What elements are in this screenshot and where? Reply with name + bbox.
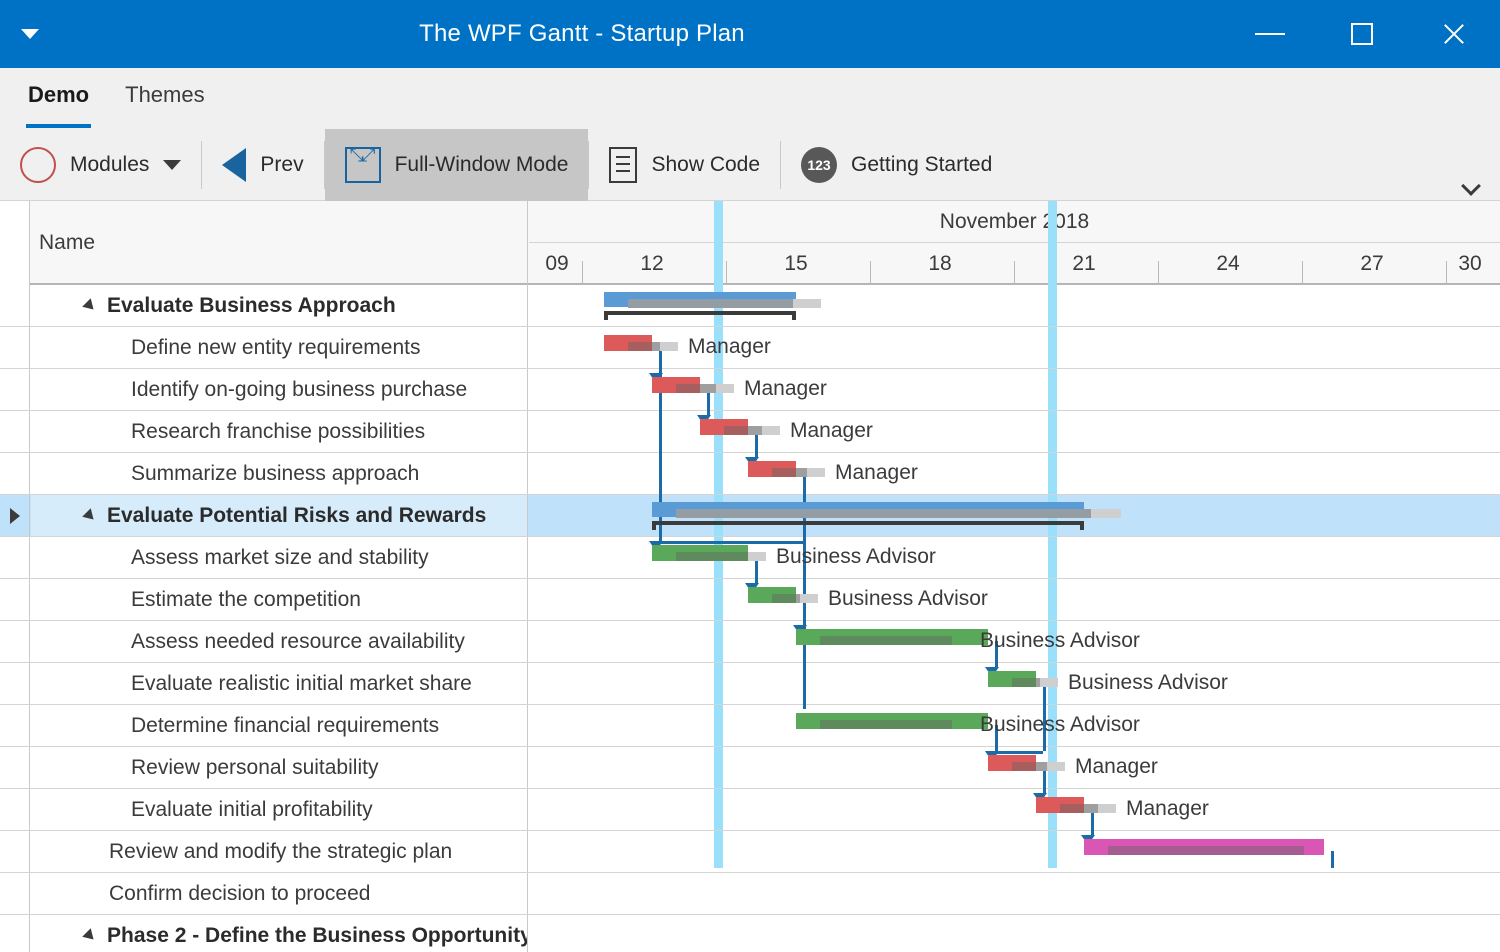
row-expander-cell[interactable] <box>0 579 30 620</box>
summary-progress <box>676 509 1091 518</box>
task-name-label: Determine financial requirements <box>131 714 439 738</box>
row-name-cell: Summarize business approach <box>31 453 528 494</box>
timeline-row-divider <box>529 830 1500 831</box>
task-name-label: Assess market size and stability <box>131 546 429 570</box>
column-header-name[interactable]: Name <box>31 201 528 285</box>
task-name-label: Evaluate realistic initial market share <box>131 672 472 696</box>
prev-triangle-icon <box>222 148 246 182</box>
tab-themes[interactable]: Themes <box>123 76 206 122</box>
collapse-triangle-icon[interactable] <box>82 298 98 314</box>
row-expander-cell[interactable] <box>0 705 30 746</box>
task-progress-bar <box>1012 678 1040 687</box>
minimize-icon <box>1255 33 1285 35</box>
row-name-cell: Determine financial requirements <box>31 705 528 746</box>
task-progress-bar <box>676 552 748 561</box>
row-expander-cell[interactable] <box>0 495 30 536</box>
table-row[interactable]: Confirm decision to proceed <box>0 873 1500 915</box>
timeline-row-divider <box>529 368 1500 369</box>
chevron-down-icon <box>163 160 181 170</box>
tab-demo[interactable]: Demo <box>26 76 91 122</box>
minimize-button[interactable] <box>1224 0 1316 68</box>
show-code-label: Show Code <box>651 153 760 177</box>
row-name-cell: Phase 2 - Define the Business Opportunit… <box>31 915 528 952</box>
timeline-row-divider <box>529 746 1500 747</box>
task-progress-bar <box>724 426 762 435</box>
getting-started-button[interactable]: 123 Getting Started <box>781 129 1012 201</box>
modules-button[interactable]: Modules <box>0 129 201 201</box>
summary-bracket <box>652 521 1084 530</box>
row-name-cell: Research franchise possibilities <box>31 411 528 452</box>
resource-label: Manager <box>744 377 827 401</box>
row-name-cell: Assess needed resource availability <box>31 621 528 662</box>
table-row[interactable]: Phase 2 - Define the Business Opportunit… <box>0 915 1500 952</box>
row-expander-cell[interactable] <box>0 747 30 788</box>
row-expander-cell[interactable] <box>0 453 30 494</box>
task-name-label: Identify on-going business purchase <box>131 378 467 402</box>
prev-label: Prev <box>260 153 303 177</box>
timeline-row-divider <box>529 410 1500 411</box>
resource-label: Manager <box>790 419 873 443</box>
timeline-row-divider <box>529 620 1500 621</box>
task-progress-bar <box>1012 762 1047 771</box>
dependency-link-vertical <box>1331 851 1334 868</box>
row-name-cell: Estimate the competition <box>31 579 528 620</box>
row-name-cell: Define new entity requirements <box>31 327 528 368</box>
ribbon-command-bar: Modules Prev Full-Window Mode Show Code … <box>0 129 1500 201</box>
resource-label: Business Advisor <box>828 587 988 611</box>
resource-label: Manager <box>1075 755 1158 779</box>
show-code-button[interactable]: Show Code <box>589 129 780 201</box>
ribbon: Demo Themes Modules Prev Full-Window Mod… <box>0 68 1500 201</box>
task-name-label: Estimate the competition <box>131 588 361 612</box>
fullscreen-icon <box>345 147 381 183</box>
timeline-row-divider <box>529 704 1500 705</box>
task-progress-bar <box>1060 804 1098 813</box>
timeline-row-divider <box>529 452 1500 453</box>
close-icon <box>1441 21 1467 47</box>
resource-label: Business Advisor <box>980 713 1140 737</box>
row-name-cell: Review and modify the strategic plan <box>31 831 528 872</box>
maximize-button[interactable] <box>1316 0 1408 68</box>
ribbon-tab-strip: Demo Themes <box>0 68 1500 129</box>
row-name-cell: Evaluate Business Approach <box>31 285 528 326</box>
task-progress-bar <box>676 384 716 393</box>
gantt-control: Name November 2018 0912151821242730 Eval… <box>0 201 1500 952</box>
maximize-icon <box>1351 23 1373 45</box>
task-progress-bar <box>1108 846 1304 855</box>
gantt-timeline-area[interactable]: ManagerManagerManagerManagerBusiness Adv… <box>529 201 1500 868</box>
row-expander-cell[interactable] <box>0 621 30 662</box>
task-name-label: Review and modify the strategic plan <box>109 840 452 864</box>
task-progress-bar <box>772 594 800 603</box>
getting-started-label: Getting Started <box>851 153 992 177</box>
resource-label: Business Advisor <box>776 545 936 569</box>
resource-label: Business Advisor <box>1068 671 1228 695</box>
resource-label: Business Advisor <box>980 629 1140 653</box>
row-name-cell: Evaluate realistic initial market share <box>31 663 528 704</box>
timeline-row-divider <box>529 662 1500 663</box>
row-expander-cell[interactable] <box>0 411 30 452</box>
123-badge-icon: 123 <box>801 147 837 183</box>
compass-icon <box>20 147 56 183</box>
timeline-row-divider <box>529 326 1500 327</box>
task-name-label: Assess needed resource availability <box>131 630 465 654</box>
task-progress-bar <box>628 342 660 351</box>
task-name-label: Research franchise possibilities <box>131 420 425 444</box>
task-name-label: Define new entity requirements <box>131 336 420 360</box>
code-document-icon <box>609 147 637 183</box>
row-name-cell: Evaluate Potential Risks and Rewards <box>31 495 528 536</box>
task-progress-bar <box>820 720 952 729</box>
row-expander-cell[interactable] <box>0 873 30 914</box>
row-expander-cell[interactable] <box>0 327 30 368</box>
task-name-label: Summarize business approach <box>131 462 419 486</box>
full-window-mode-label: Full-Window Mode <box>395 153 569 177</box>
task-name-label: Evaluate Business Approach <box>107 294 396 318</box>
task-name-label: Confirm decision to proceed <box>109 882 370 906</box>
row-name-cell: Evaluate initial profitability <box>31 789 528 830</box>
prev-button[interactable]: Prev <box>202 129 323 201</box>
row-name-cell: Identify on-going business purchase <box>31 369 528 410</box>
row-name-cell: Assess market size and stability <box>31 537 528 578</box>
resource-label: Manager <box>835 461 918 485</box>
row-expander-cell[interactable] <box>0 285 30 326</box>
row-name-cell: Confirm decision to proceed <box>31 873 528 914</box>
summary-bracket <box>604 311 796 320</box>
task-name-label: Phase 2 - Define the Business Opportunit… <box>107 924 528 948</box>
ribbon-spacer <box>1012 129 1442 201</box>
chevron-down-icon <box>1461 176 1481 196</box>
collapse-triangle-icon[interactable] <box>82 928 98 944</box>
row-expander-cell[interactable] <box>0 831 30 872</box>
ribbon-expand-button[interactable] <box>1442 129 1500 201</box>
dependency-link-horizontal <box>655 541 803 544</box>
modules-label: Modules <box>70 153 149 177</box>
timeline-row-divider <box>529 494 1500 495</box>
task-progress-bar <box>772 468 807 477</box>
summary-progress <box>628 299 793 308</box>
row-expander-cell[interactable] <box>0 789 30 830</box>
task-name-label: Review personal suitability <box>131 756 378 780</box>
collapse-triangle-icon[interactable] <box>82 508 98 524</box>
resource-label: Manager <box>688 335 771 359</box>
timeline-row-divider <box>529 788 1500 789</box>
row-expander-cell[interactable] <box>0 369 30 410</box>
timeline-row-divider <box>529 578 1500 579</box>
window-titlebar: The WPF Gantt - Startup Plan <box>0 0 1500 68</box>
close-button[interactable] <box>1408 0 1500 68</box>
resource-label: Manager <box>1126 797 1209 821</box>
timeline-row-divider <box>529 536 1500 537</box>
row-expander-cell[interactable] <box>0 663 30 704</box>
row-expander-cell[interactable] <box>0 537 30 578</box>
window-title: The WPF Gantt - Startup Plan <box>0 20 1224 48</box>
task-name-label: Evaluate Potential Risks and Rewards <box>107 504 486 528</box>
triangle-right-icon <box>10 508 20 524</box>
task-progress-bar <box>820 636 952 645</box>
task-name-label: Evaluate initial profitability <box>131 798 373 822</box>
window-controls <box>1224 0 1500 68</box>
full-window-mode-button[interactable]: Full-Window Mode <box>325 129 589 201</box>
row-expander-cell[interactable] <box>0 915 30 952</box>
row-name-cell: Review personal suitability <box>31 747 528 788</box>
